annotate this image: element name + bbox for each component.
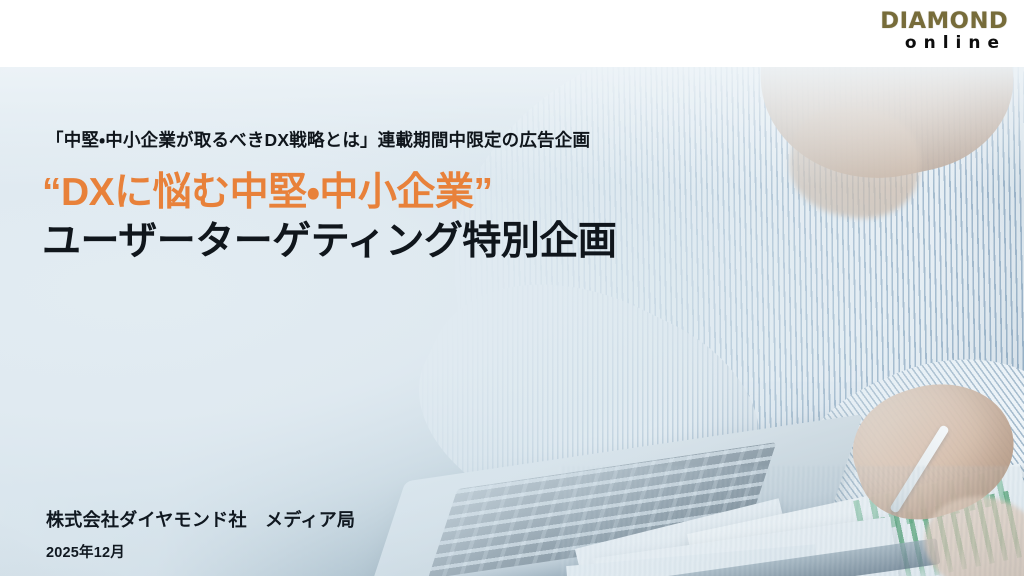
slide-text-layer: 「中堅・中小企業が取るべきDX戦略とは」連載期間中限定の広告企画 “DXに悩む中… xyxy=(0,0,1024,576)
diamond-online-logo[interactable]: DIAMOND online xyxy=(884,11,1008,52)
page-title-line-2: ユーザーターゲティング特別企画 xyxy=(42,217,616,266)
presentation-slide: 「中堅・中小企業が取るべきDX戦略とは」連載期間中限定の広告企画 “DXに悩む中… xyxy=(0,0,1024,576)
page-title: “DXに悩む中堅・中小企業” ユーザーターゲティング特別企画 xyxy=(42,168,616,266)
slide-eyebrow-text: 「中堅・中小企業が取るべきDX戦略とは」連載期間中限定の広告企画 xyxy=(46,127,590,152)
header-band: DIAMOND online xyxy=(0,0,1024,67)
logo-wordmark-online: online xyxy=(884,35,1008,52)
footer-organization: 株式会社ダイヤモンド社 メディア局 xyxy=(46,506,355,532)
slide-footer: 株式会社ダイヤモンド社 メディア局 2025年12月 xyxy=(46,506,355,562)
footer-date: 2025年12月 xyxy=(46,541,355,562)
logo-wordmark-diamond: DIAMOND xyxy=(880,11,1008,33)
page-title-line-1: “DXに悩む中堅・中小企業” xyxy=(42,168,616,217)
